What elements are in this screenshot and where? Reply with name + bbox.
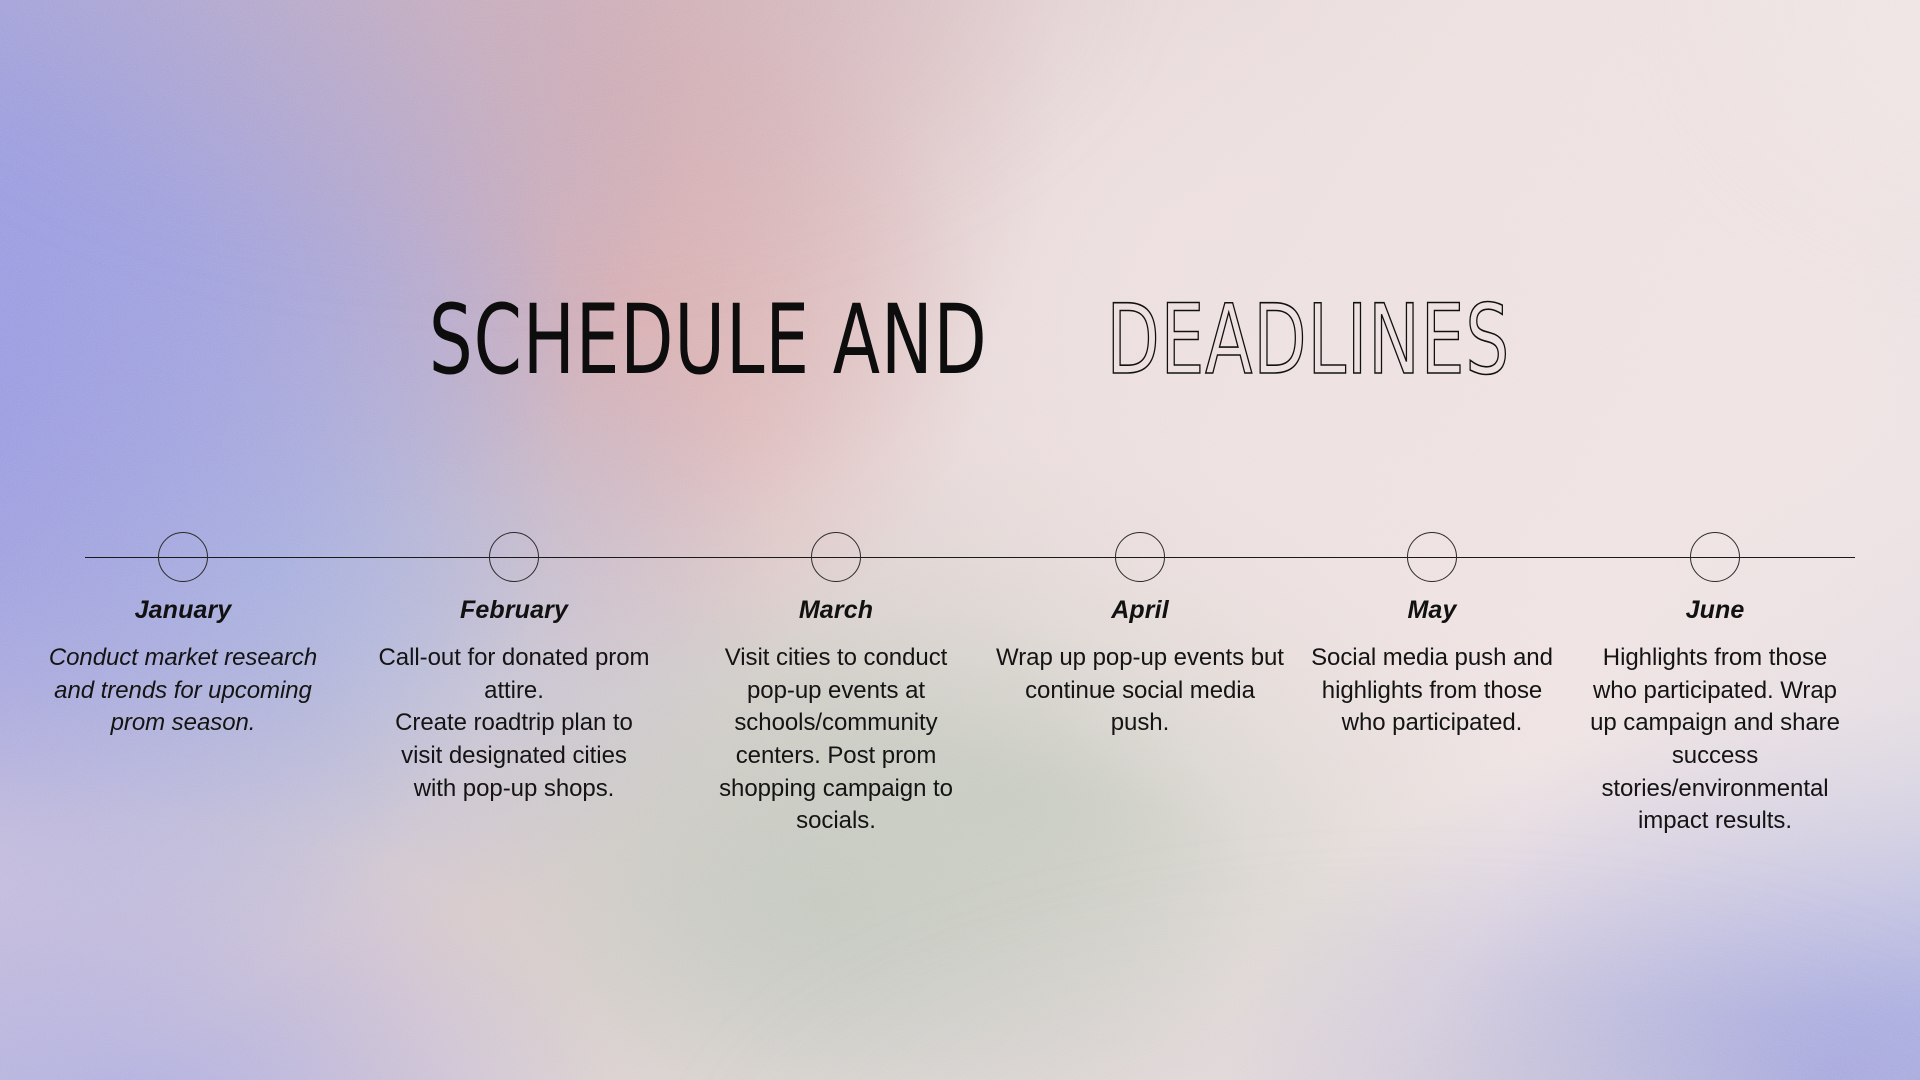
timeline-node-june[interactable] (1690, 532, 1740, 582)
month-label: February (378, 595, 650, 625)
month-column-june: JuneHighlights from those who participat… (1589, 595, 1841, 838)
month-label: June (1589, 595, 1841, 625)
month-description: Visit cities to conduct pop-up events at… (705, 642, 967, 838)
month-column-april: AprilWrap up pop-up events but continue … (996, 595, 1284, 740)
timeline-axis-line (85, 557, 1855, 558)
month-description: Highlights from those who participated. … (1589, 642, 1841, 838)
timeline-node-march[interactable] (811, 532, 861, 582)
month-label: January (33, 595, 333, 625)
month-column-february: FebruaryCall-out for donated prom attire… (378, 595, 650, 805)
timeline-node-february[interactable] (489, 532, 539, 582)
title-outline-text: DEADLINES (1106, 292, 1510, 388)
month-description: Social media push and highlights from th… (1301, 642, 1563, 740)
timeline-node-may[interactable] (1407, 532, 1457, 582)
timeline-node-april[interactable] (1115, 532, 1165, 582)
timeline-month-columns: JanuaryConduct market research and trend… (0, 595, 1920, 995)
month-description: Wrap up pop-up events but continue socia… (996, 642, 1284, 740)
page-title: SCHEDULE ANDDEADLINES (0, 292, 1920, 388)
month-description: Call-out for donated prom attire. Create… (378, 642, 650, 805)
slide-canvas: SCHEDULE ANDDEADLINES JanuaryConduct mar… (0, 0, 1920, 1080)
month-column-may: MaySocial media push and highlights from… (1301, 595, 1563, 740)
timeline-node-january[interactable] (158, 532, 208, 582)
month-label: April (996, 595, 1284, 625)
month-column-january: JanuaryConduct market research and trend… (33, 595, 333, 740)
month-description: Conduct market research and trends for u… (33, 642, 333, 740)
month-label: March (705, 595, 967, 625)
month-label: May (1301, 595, 1563, 625)
title-solid-text: SCHEDULE AND (429, 292, 988, 388)
month-column-march: MarchVisit cities to conduct pop-up even… (705, 595, 967, 838)
